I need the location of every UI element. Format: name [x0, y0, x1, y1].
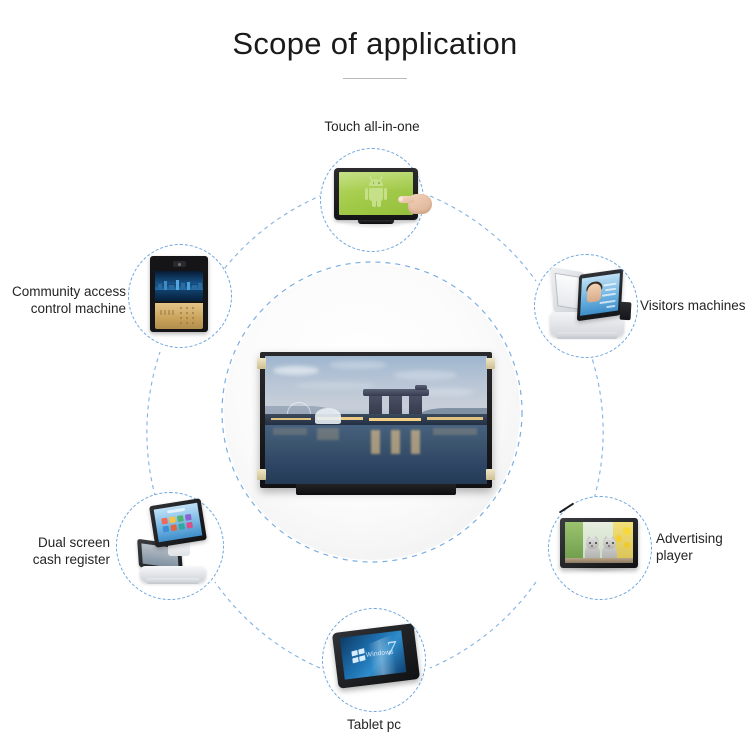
node-community-access-control-machine[interactable]	[128, 244, 232, 348]
android-robot-icon	[364, 179, 388, 208]
label-touch-all-in-one: Touch all-in-one	[282, 118, 462, 135]
access-control-machine-icon	[128, 244, 232, 348]
label-tablet-pc: Tablet pc	[284, 716, 464, 733]
scope-of-application-diagram: Scope of application	[0, 0, 750, 750]
visitors-machine-icon	[534, 254, 638, 358]
label-advertising-player: Advertising player	[656, 530, 750, 564]
node-tablet-pc[interactable]: Windows 7	[322, 608, 426, 712]
label-visitors-machines: Visitors machines	[640, 297, 750, 314]
label-community-access-control-machine: Community access control machine	[0, 283, 126, 317]
node-visitors-machines[interactable]	[534, 254, 638, 358]
touching-hand-icon	[398, 188, 432, 218]
lcd-display-panel	[260, 352, 492, 500]
tablet-pc-icon: Windows 7	[322, 608, 426, 712]
touch-all-in-one-icon	[320, 148, 424, 252]
label-dual-screen-cash-register: Dual screen cash register	[0, 534, 110, 568]
node-touch-all-in-one[interactable]	[320, 148, 424, 252]
lcd-screen-image	[265, 356, 487, 484]
advertising-player-icon	[548, 496, 652, 600]
node-advertising-player[interactable]	[548, 496, 652, 600]
cash-register-icon	[116, 492, 224, 600]
keypad-icon	[180, 307, 199, 325]
node-dual-screen-cash-register[interactable]	[116, 492, 224, 600]
